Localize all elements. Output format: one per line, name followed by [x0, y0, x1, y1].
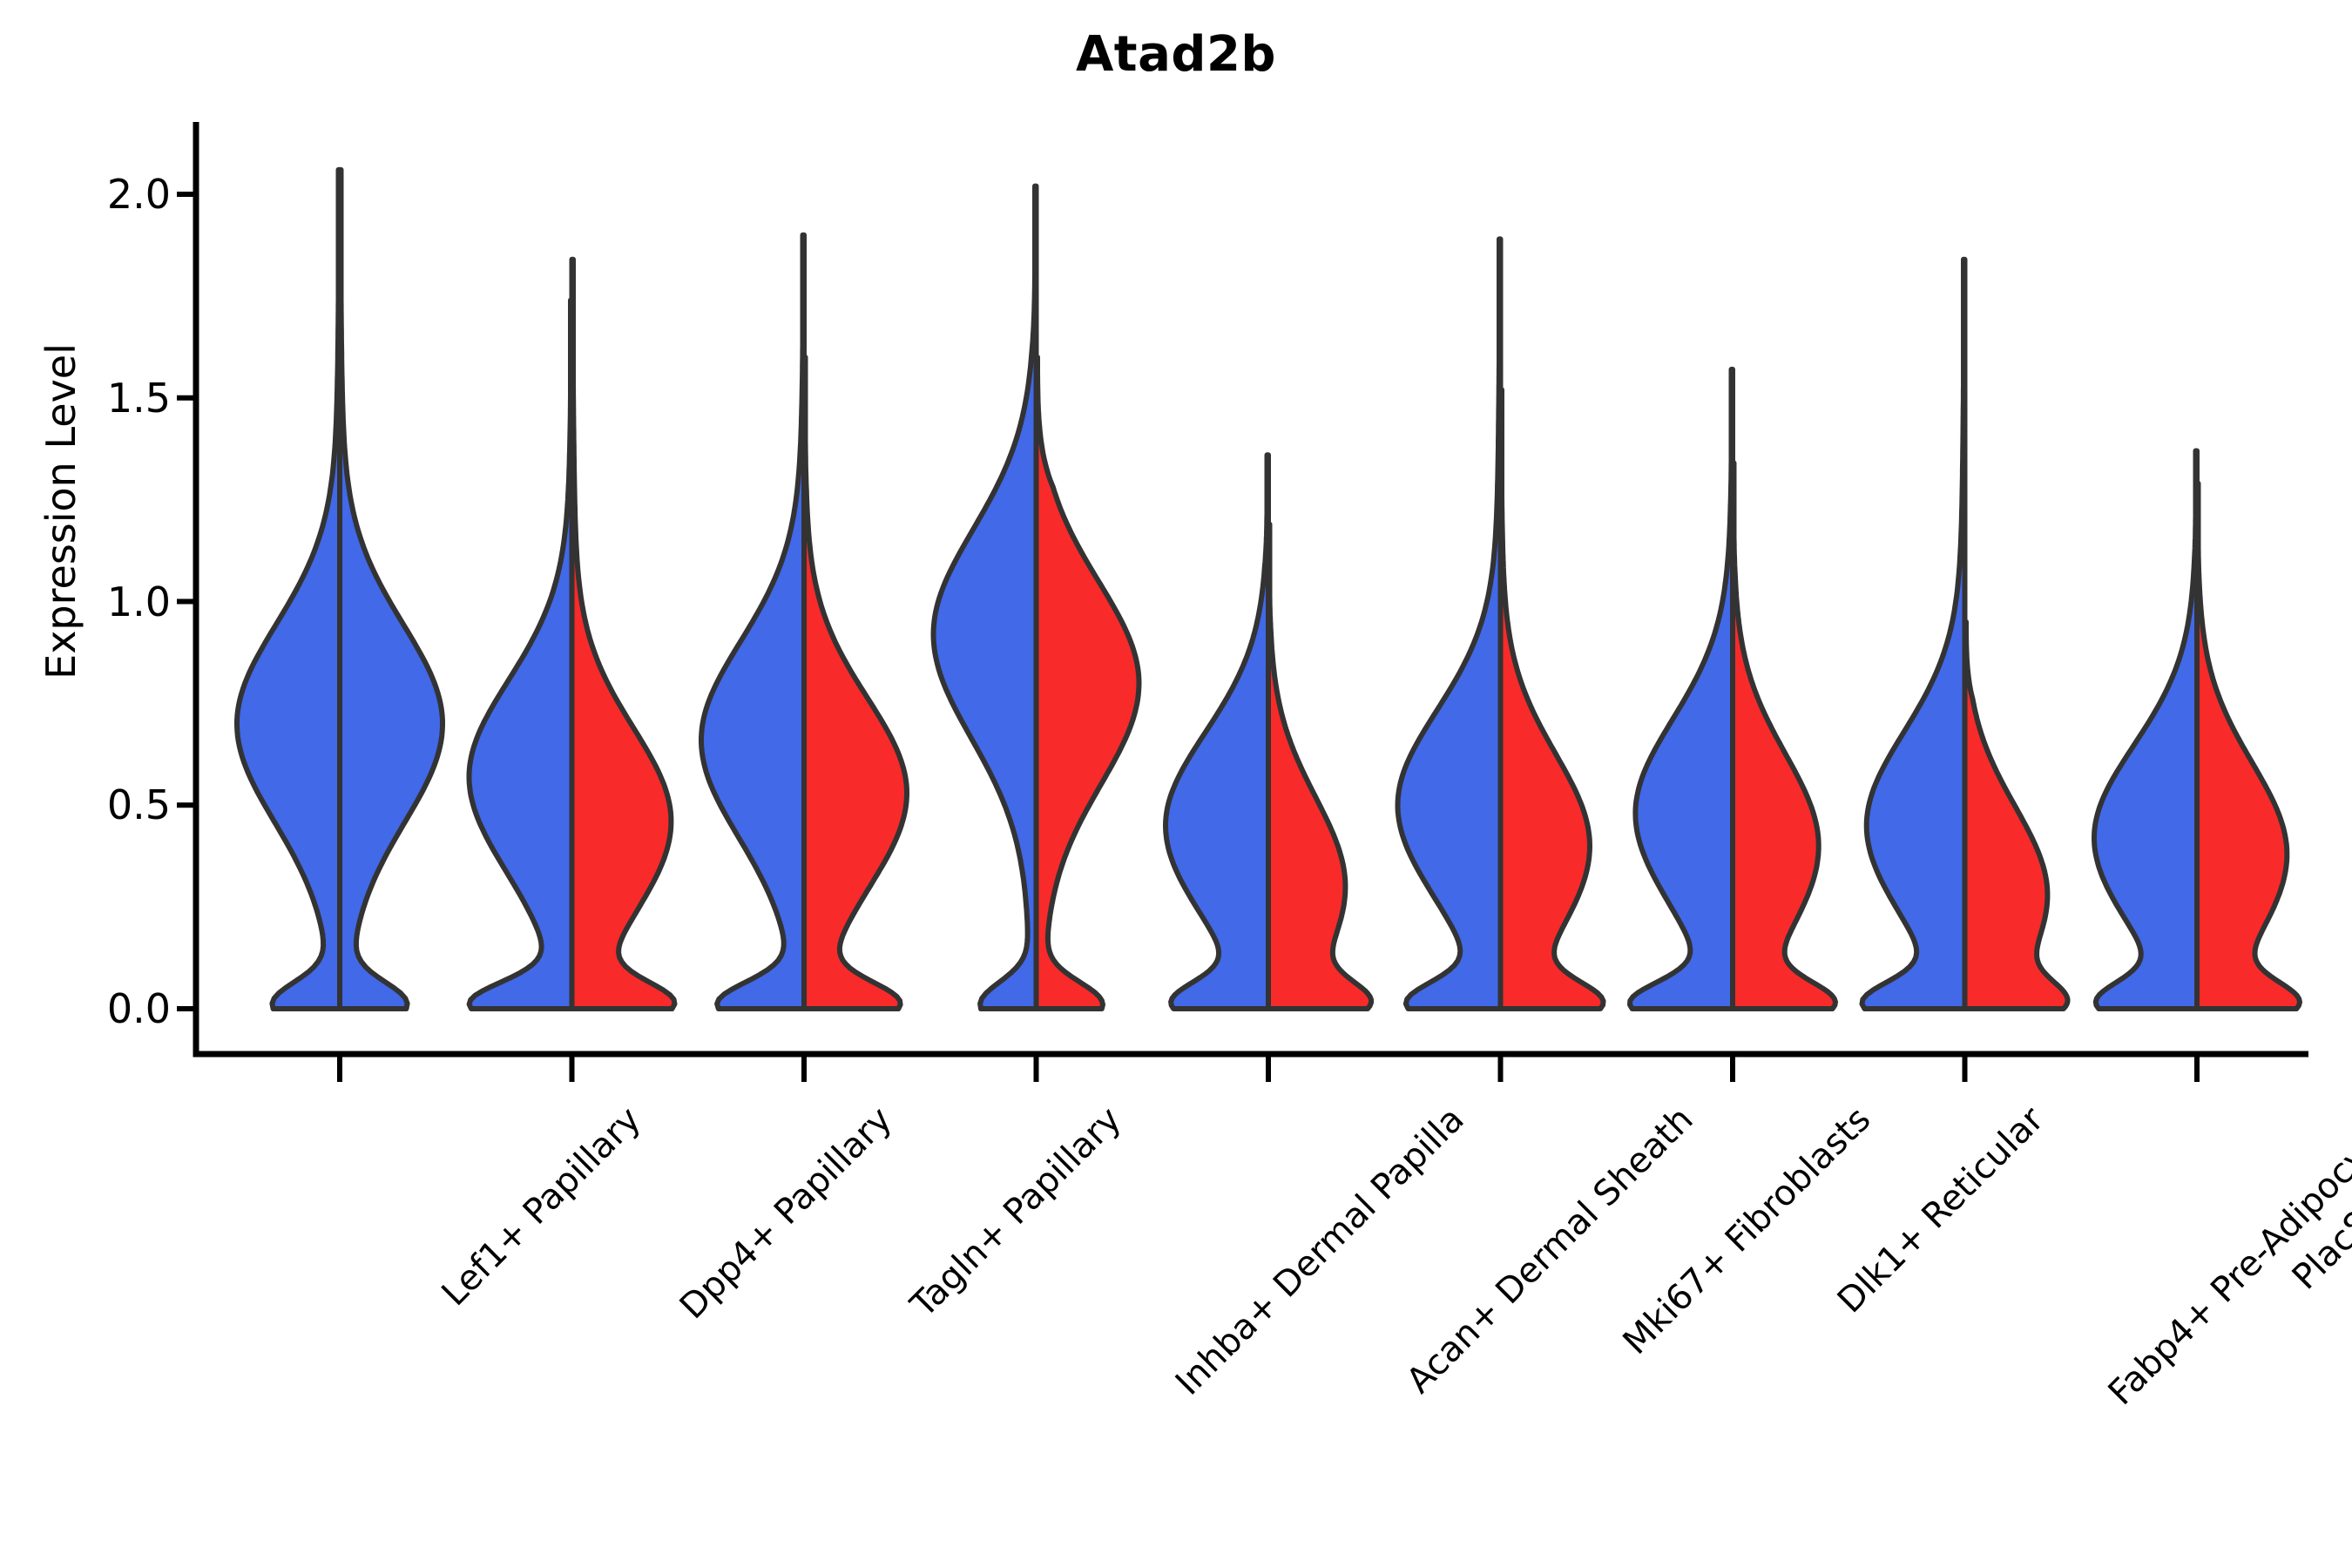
violin-shape	[1268, 524, 1371, 1009]
violin-shape	[1965, 622, 2068, 1009]
violin-shape	[1398, 239, 1501, 1009]
x-tick-marks	[340, 1054, 2197, 1082]
violin-plot-figure: Atad2b Expression Level 0.0 0.5 1.0 1.5 …	[0, 0, 2352, 1568]
violins-group	[237, 170, 2300, 1009]
violin-shape	[237, 170, 340, 1009]
violin-shape	[470, 301, 572, 1009]
violin-shape	[1862, 260, 1965, 1009]
violin-shape	[2094, 451, 2197, 1010]
violin-shape	[572, 260, 675, 1009]
violin-shape	[1733, 463, 1835, 1010]
plot-canvas	[0, 0, 2352, 1568]
violin-shape	[1166, 455, 1268, 1009]
violin-shape	[2197, 483, 2300, 1009]
violin-shape	[340, 170, 443, 1009]
violin-shape	[1501, 389, 1604, 1009]
violin-shape	[701, 235, 804, 1009]
violin-shape	[934, 186, 1037, 1009]
violin-shape	[804, 357, 907, 1009]
violin-shape	[1630, 369, 1733, 1009]
violin-shape	[1037, 357, 1139, 1009]
